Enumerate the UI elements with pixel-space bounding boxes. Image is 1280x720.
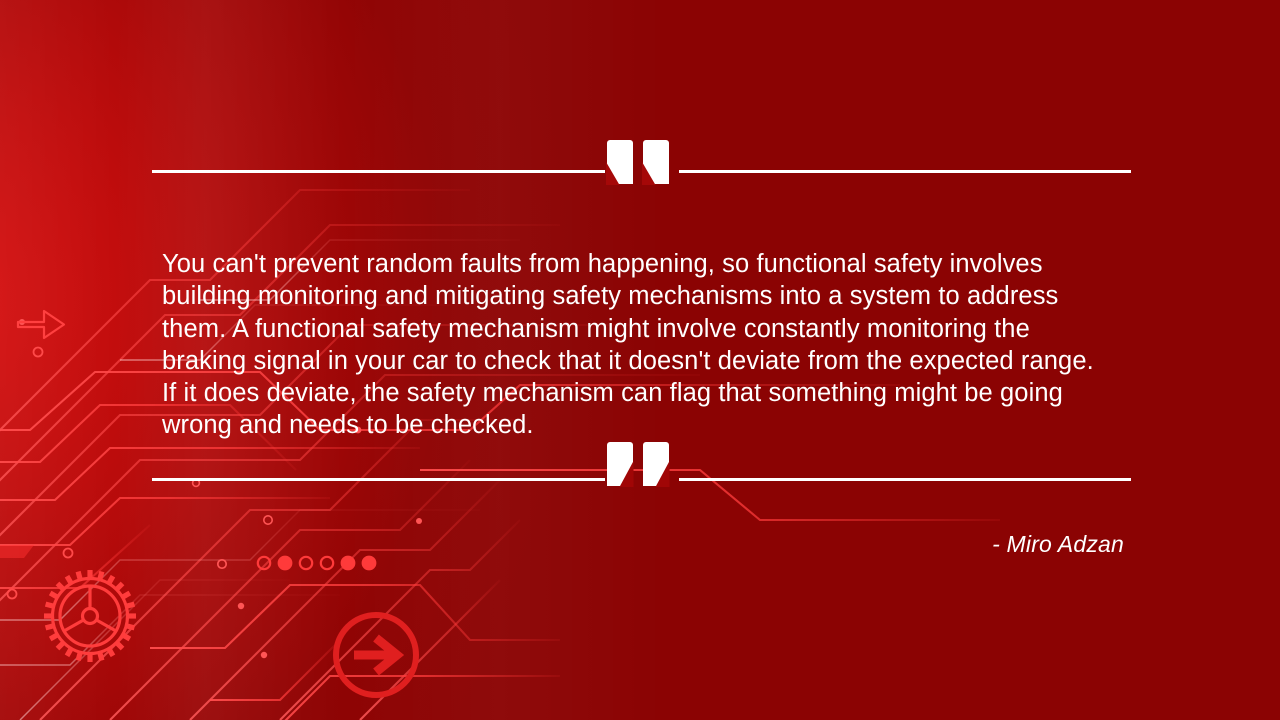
quote-text: You can't prevent random faults from hap…	[162, 248, 1114, 442]
divider-line-right	[679, 170, 1132, 173]
divider-line-right	[679, 478, 1132, 481]
opening-quote-icon	[605, 170, 679, 173]
quote-slide: You can't prevent random faults from hap…	[0, 0, 1280, 720]
quote-attribution: - Miro Adzan	[162, 531, 1124, 558]
bottom-divider-row	[152, 478, 1131, 481]
divider-line-left	[152, 170, 605, 173]
closing-quote-icon	[605, 478, 679, 481]
top-divider-row	[152, 170, 1131, 173]
quote-content: You can't prevent random faults from hap…	[0, 0, 1280, 720]
divider-line-left	[152, 478, 605, 481]
